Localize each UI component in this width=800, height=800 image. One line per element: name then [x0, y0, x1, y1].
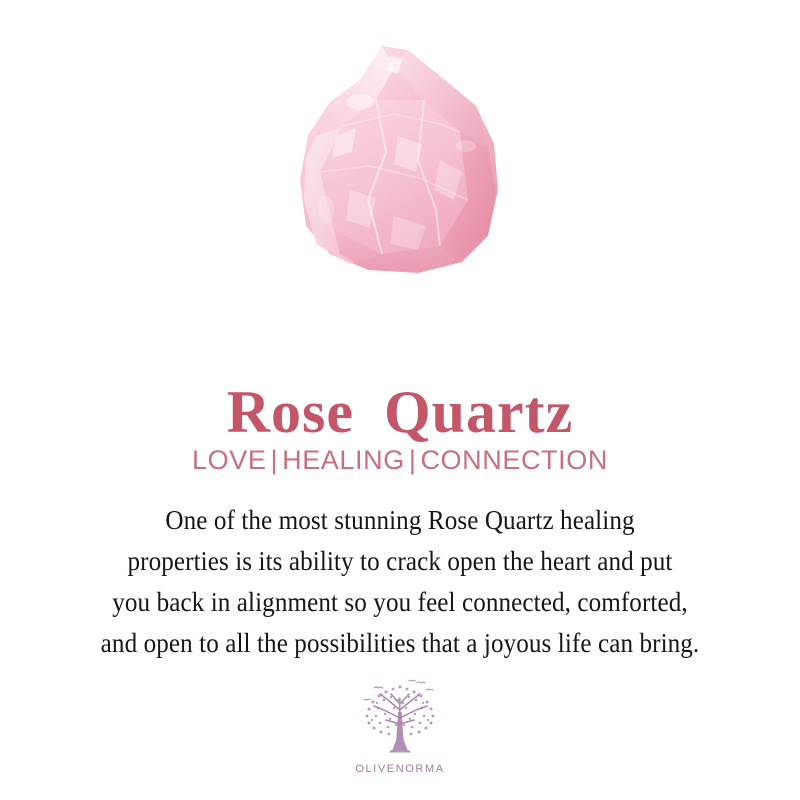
keyword-connection: CONNECTION [420, 445, 608, 475]
crystal-image [290, 40, 510, 280]
brand-wordmark: OLIVENORMA [340, 763, 460, 775]
hero-image-area [0, 40, 800, 290]
keyword-subtitle: LOVE|HEALING|CONNECTION [0, 444, 800, 476]
description-line-1: One of the most stunning Rose Quartz hea… [28, 500, 772, 541]
tree-icon [354, 678, 446, 760]
description-line-2: properties is its ability to crack open … [28, 541, 772, 582]
description-line-4: and open to all the possibilities that a… [28, 623, 772, 664]
keyword-healing: HEALING [282, 445, 405, 475]
rose-quartz-info-card: Rose Quartz LOVE|HEALING|CONNECTION One … [0, 0, 800, 800]
keyword-separator-1: | [266, 445, 282, 475]
keyword-love: LOVE [192, 445, 266, 475]
keyword-separator-2: | [405, 445, 421, 475]
description-paragraph: One of the most stunning Rose Quartz hea… [0, 500, 800, 664]
page-title: Rose Quartz [0, 380, 800, 444]
description-line-3: you back in alignment so you feel connec… [28, 582, 772, 623]
rose-quartz-crystal-icon [290, 40, 510, 280]
brand-logo: OLIVENORMA [340, 678, 460, 775]
